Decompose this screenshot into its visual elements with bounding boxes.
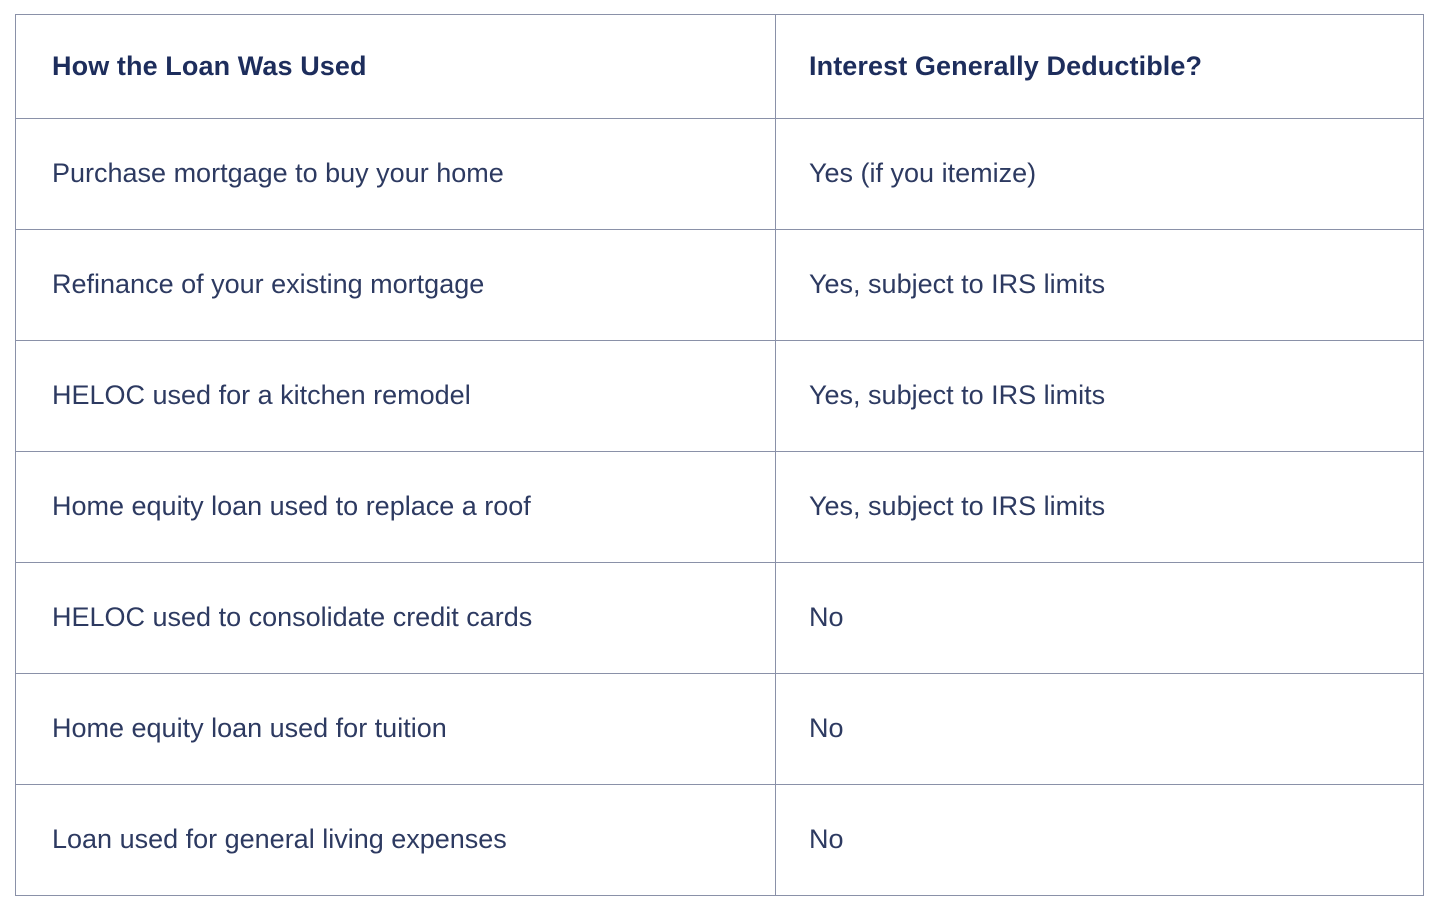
cell-loan-use: Home equity loan used for tuition [16,674,776,785]
cell-interest-deductible: Yes, subject to IRS limits [776,341,1424,452]
table-header: How the Loan Was Used Interest Generally… [16,15,1424,119]
cell-loan-use: HELOC used to consolidate credit cards [16,563,776,674]
cell-interest-deductible: No [776,563,1424,674]
cell-interest-deductible: No [776,674,1424,785]
deductibility-table-container: How the Loan Was Used Interest Generally… [15,14,1423,893]
cell-interest-deductible: No [776,785,1424,896]
table-row: Home equity loan used to replace a roofY… [16,452,1424,563]
cell-interest-deductible: Yes (if you itemize) [776,119,1424,230]
table-row: Loan used for general living expensesNo [16,785,1424,896]
table-row: HELOC used to consolidate credit cardsNo [16,563,1424,674]
cell-loan-use: Home equity loan used to replace a roof [16,452,776,563]
cell-loan-use: Loan used for general living expenses [16,785,776,896]
cell-loan-use: Refinance of your existing mortgage [16,230,776,341]
table-row: Refinance of your existing mortgageYes, … [16,230,1424,341]
column-header-loan-use: How the Loan Was Used [16,15,776,119]
cell-loan-use: Purchase mortgage to buy your home [16,119,776,230]
table-row: Home equity loan used for tuitionNo [16,674,1424,785]
table-row: Purchase mortgage to buy your homeYes (i… [16,119,1424,230]
column-header-interest-deductible: Interest Generally Deductible? [776,15,1424,119]
cell-interest-deductible: Yes, subject to IRS limits [776,452,1424,563]
table-body: Purchase mortgage to buy your homeYes (i… [16,119,1424,896]
cell-loan-use: HELOC used for a kitchen remodel [16,341,776,452]
table-header-row: How the Loan Was Used Interest Generally… [16,15,1424,119]
loan-interest-deductibility-table: How the Loan Was Used Interest Generally… [15,14,1424,896]
table-row: HELOC used for a kitchen remodelYes, sub… [16,341,1424,452]
page-root: How the Loan Was Used Interest Generally… [0,0,1440,911]
cell-interest-deductible: Yes, subject to IRS limits [776,230,1424,341]
